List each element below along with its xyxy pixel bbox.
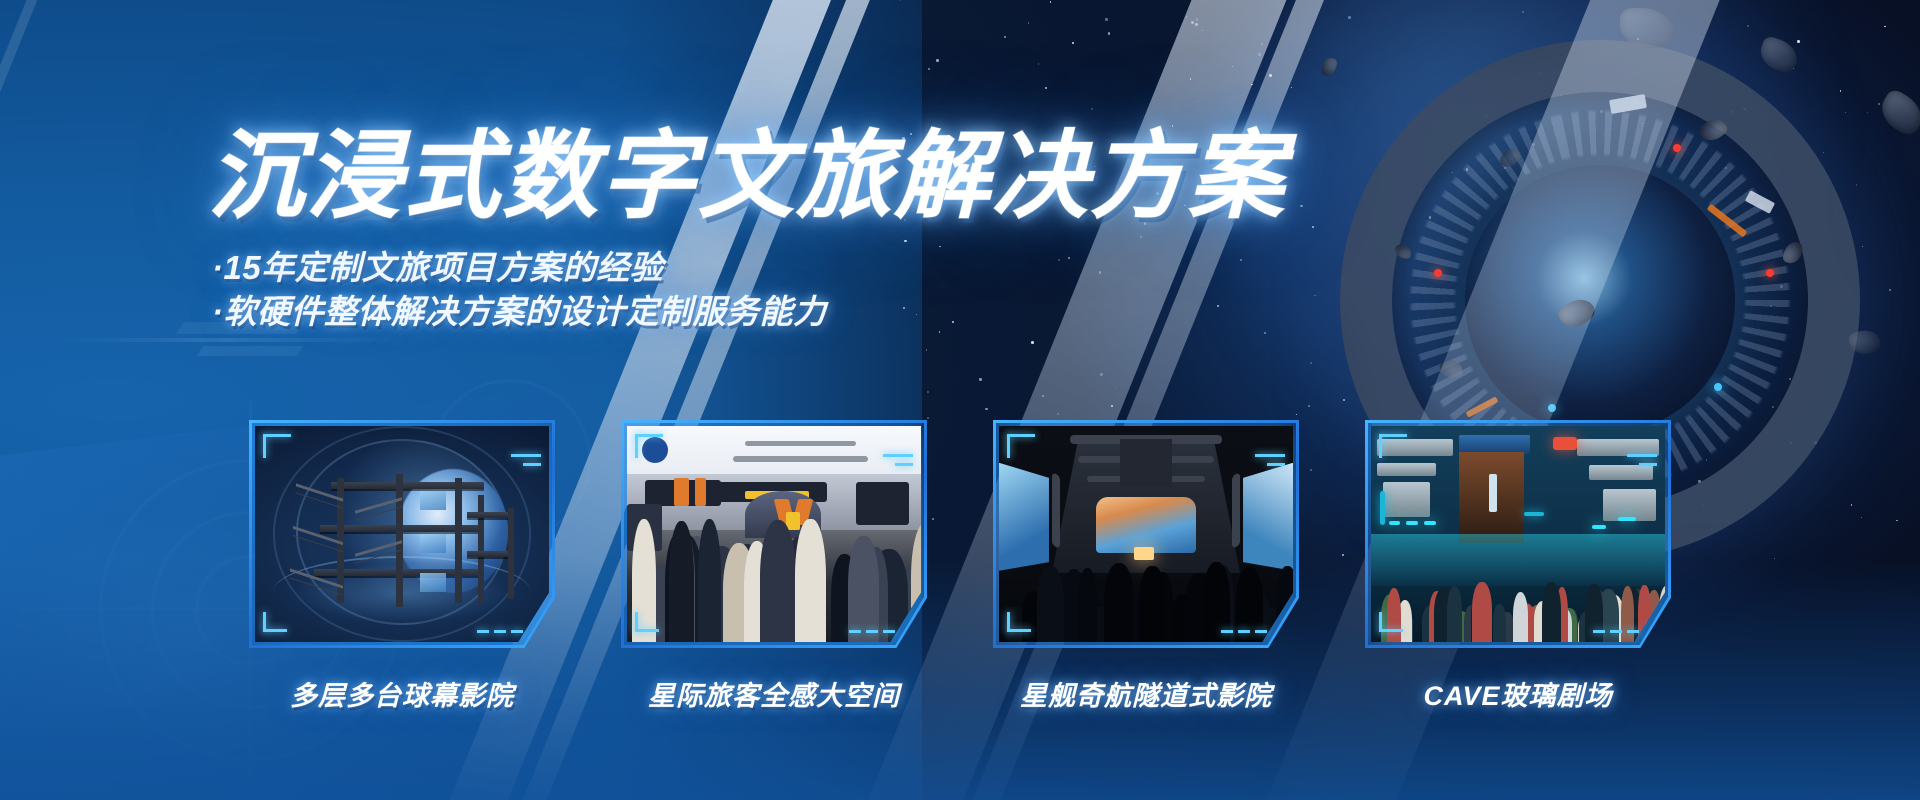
card-frame — [249, 420, 555, 648]
card-frame — [621, 420, 927, 648]
solution-card-row: 多层多台球幕影院 — [0, 420, 1920, 713]
solution-card[interactable]: 多层多台球幕影院 — [249, 420, 555, 713]
card-frame — [993, 420, 1299, 648]
solution-card[interactable]: 星舰奇航隧道式影院 — [993, 420, 1299, 713]
card-image-tunnel-theatre — [999, 426, 1293, 642]
headline-block: 沉浸式数字文旅解决方案 ·15年定制文旅项目方案的经验 ·软硬件整体解决方案的设… — [208, 128, 1286, 334]
card-caption: 星舰奇航隧道式影院 — [993, 674, 1299, 713]
page-title: 沉浸式数字文旅解决方案 — [208, 128, 1286, 226]
audience-silhouettes — [1371, 525, 1665, 642]
hero-banner: 沉浸式数字文旅解决方案 ·15年定制文旅项目方案的经验 ·软硬件整体解决方案的设… — [0, 0, 1920, 800]
card-caption: CAVE玻璃剧场 — [1365, 674, 1671, 713]
solution-card[interactable]: 星际旅客全感大空间 — [621, 420, 927, 713]
subtitle-list: ·15年定制文旅项目方案的经验 ·软硬件整体解决方案的设计定制服务能力 — [212, 246, 1286, 334]
card-caption: 多层多台球幕影院 — [249, 674, 555, 713]
solution-card[interactable]: CAVE玻璃剧场 — [1365, 420, 1671, 713]
card-caption: 星际旅客全感大空间 — [621, 674, 927, 713]
card-image-dome-theatre — [255, 426, 549, 642]
card-image-exhibition-booth — [627, 426, 921, 642]
card-frame — [1365, 420, 1671, 648]
crowd-silhouettes — [627, 508, 921, 642]
audience-silhouettes — [999, 523, 1293, 642]
card-image-cave-theatre — [1371, 426, 1665, 642]
subtitle-line-1: ·15年定制文旅项目方案的经验 — [212, 246, 1286, 290]
subtitle-line-2: ·软硬件整体解决方案的设计定制服务能力 — [212, 290, 1286, 334]
